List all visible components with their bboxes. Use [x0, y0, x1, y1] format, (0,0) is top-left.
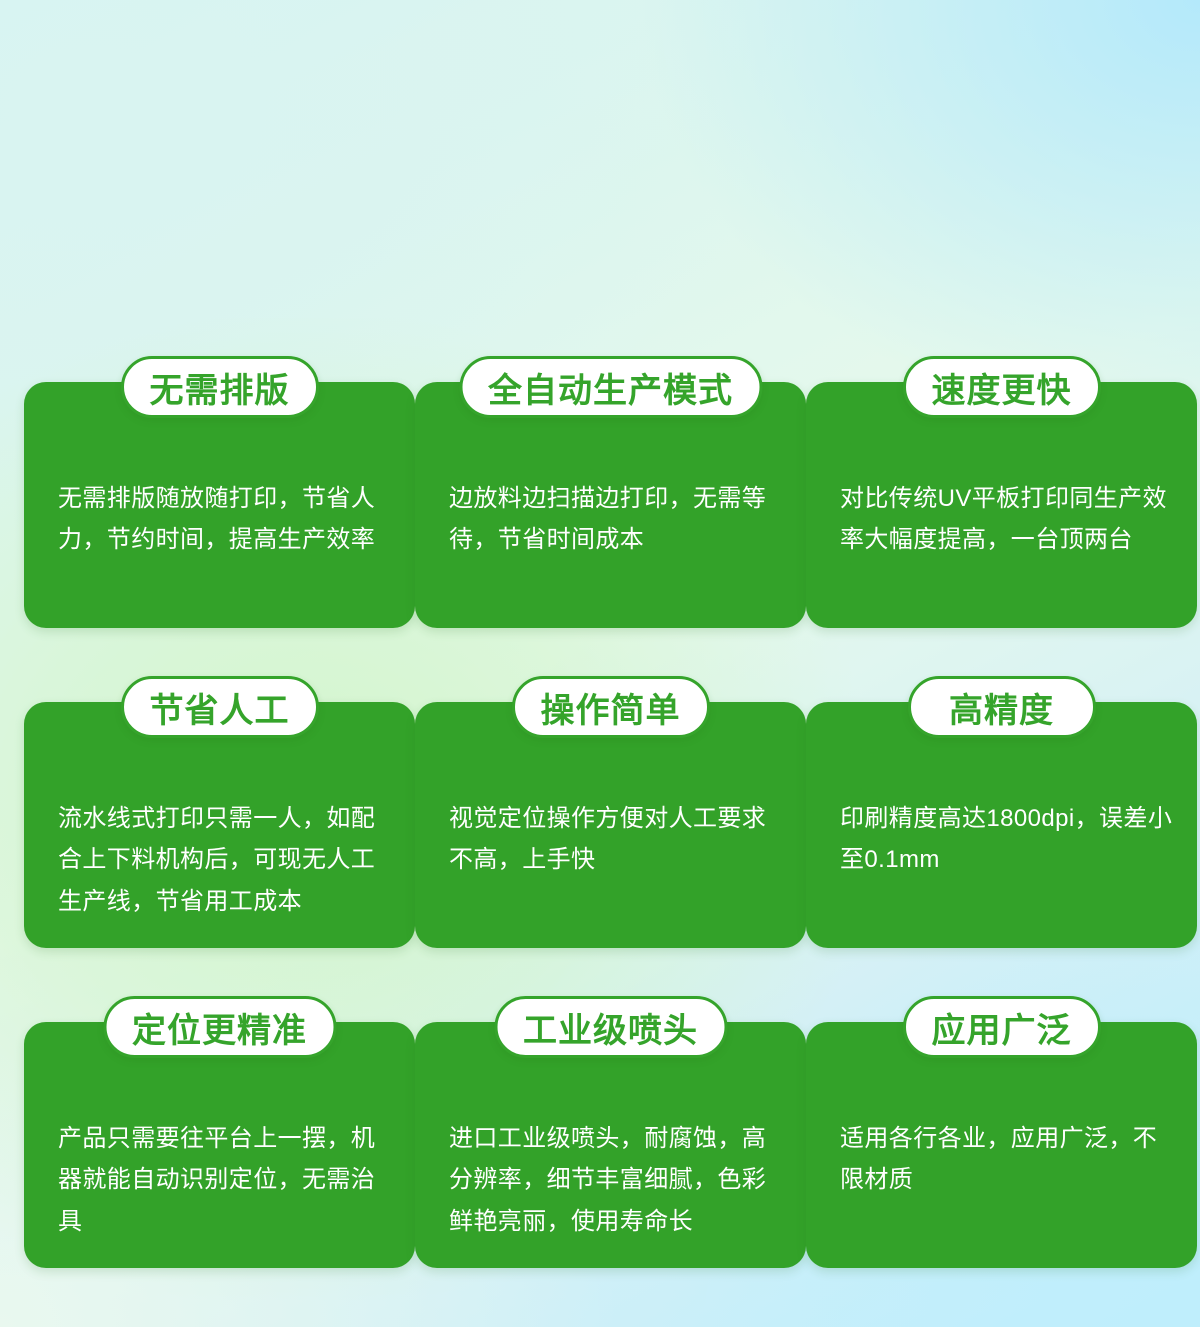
feature-card-title: 工业级喷头	[523, 1003, 698, 1052]
feature-card-description: 流水线式打印只需一人，如配合上下料机构后，可现无人工生产线，节省用工成本	[58, 798, 391, 922]
feature-card-title: 定位更精准	[132, 1003, 307, 1052]
feature-card-title: 速度更快	[932, 363, 1072, 412]
feature-card[interactable]: 高精度 印刷精度高达1800dpi，误差小至0.1mm	[806, 676, 1197, 948]
feature-card[interactable]: 操作简单 视觉定位操作方便对人工要求不高，上手快	[415, 676, 806, 948]
feature-card-grid: 无需排版 无需排版随放随打印，节省人力，节约时间，提高生产效率 全自动生产模式 …	[24, 356, 1195, 1316]
feature-card[interactable]: 无需排版 无需排版随放随打印，节省人力，节约时间，提高生产效率	[24, 356, 415, 628]
feature-card-title-pill: 无需排版	[121, 356, 319, 418]
feature-card[interactable]: 定位更精准 产品只需要往平台上一摆，机器就能自动识别定位，无需治具	[24, 996, 415, 1268]
feature-card-description: 印刷精度高达1800dpi，误差小至0.1mm	[840, 798, 1173, 881]
feature-card-description: 视觉定位操作方便对人工要求不高，上手快	[449, 798, 782, 881]
feature-card[interactable]: 工业级喷头 进口工业级喷头，耐腐蚀，高分辨率，细节丰富细腻，色彩鲜艳亮丽，使用寿…	[415, 996, 806, 1268]
feature-card-title-pill: 节省人工	[121, 676, 319, 738]
feature-card-title: 操作简单	[541, 683, 681, 732]
feature-card-title: 高精度	[949, 683, 1054, 732]
feature-card[interactable]: 全自动生产模式 边放料边扫描边打印，无需等待，节省时间成本	[415, 356, 806, 628]
feature-card-title: 节省人工	[150, 683, 290, 732]
feature-card[interactable]: 节省人工 流水线式打印只需一人，如配合上下料机构后，可现无人工生产线，节省用工成…	[24, 676, 415, 948]
feature-card-title-pill: 工业级喷头	[494, 996, 727, 1058]
feature-card[interactable]: 速度更快 对比传统UV平板打印同生产效率大幅度提高，一台顶两台	[806, 356, 1197, 628]
feature-card-title: 应用广泛	[932, 1003, 1072, 1052]
feature-card-description: 无需排版随放随打印，节省人力，节约时间，提高生产效率	[58, 478, 391, 561]
feature-card-title-pill: 应用广泛	[903, 996, 1101, 1058]
feature-card-description: 边放料边扫描边打印，无需等待，节省时间成本	[449, 478, 782, 561]
promo-banner-page: 助力企业轻松实现 提效率降成本 无需排版 无需排版随放随打印，节省人力，节约时间…	[0, 0, 1200, 1327]
feature-card[interactable]: 应用广泛 适用各行各业，应用广泛，不限材质	[806, 996, 1197, 1268]
feature-card-description: 适用各行各业，应用广泛，不限材质	[840, 1118, 1173, 1201]
feature-card-title-pill: 操作简单	[512, 676, 710, 738]
feature-card-title-pill: 全自动生产模式	[459, 356, 762, 418]
feature-card-title-pill: 定位更精准	[103, 996, 336, 1058]
feature-card-description: 产品只需要往平台上一摆，机器就能自动识别定位，无需治具	[58, 1118, 391, 1242]
feature-card-title: 无需排版	[150, 363, 290, 412]
feature-card-title: 全自动生产模式	[488, 363, 733, 412]
feature-card-description: 进口工业级喷头，耐腐蚀，高分辨率，细节丰富细腻，色彩鲜艳亮丽，使用寿命长	[449, 1118, 782, 1242]
feature-card-description: 对比传统UV平板打印同生产效率大幅度提高，一台顶两台	[840, 478, 1173, 561]
feature-card-title-pill: 速度更快	[903, 356, 1101, 418]
feature-card-title-pill: 高精度	[908, 676, 1096, 738]
